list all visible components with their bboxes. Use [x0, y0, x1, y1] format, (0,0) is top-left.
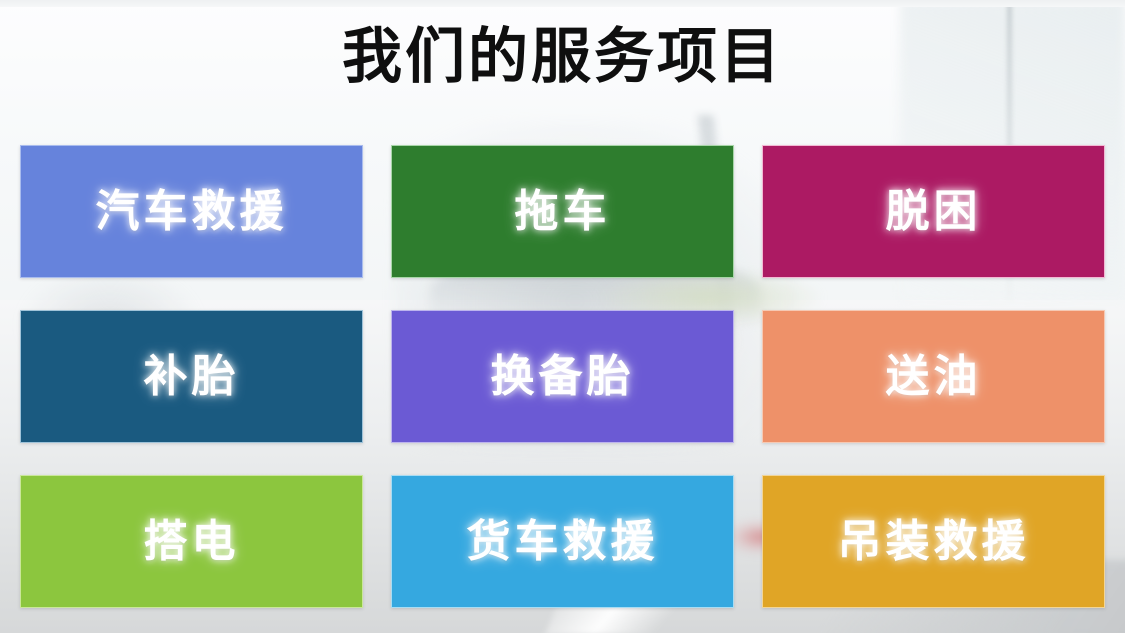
page-title: 我们的服务项目 — [342, 22, 783, 91]
service-tile[interactable]: 补胎 — [20, 310, 363, 443]
service-tile-label: 补胎 — [144, 355, 240, 399]
service-tile[interactable]: 拖车 — [391, 145, 734, 278]
service-tile[interactable]: 送油 — [762, 310, 1105, 443]
service-poster: 我们的服务项目 汽车救援拖车脱困补胎换备胎送油搭电货车救援吊装救援 — [0, 0, 1125, 633]
service-tile[interactable]: 换备胎 — [391, 310, 734, 443]
service-grid: 汽车救援拖车脱困补胎换备胎送油搭电货车救援吊装救援 — [20, 145, 1105, 608]
service-tile-label: 送油 — [886, 355, 982, 399]
background-top-strip — [0, 0, 1125, 7]
service-tile-label: 货车救援 — [467, 520, 659, 564]
service-tile-label: 吊装救援 — [838, 520, 1030, 564]
service-tile-label: 汽车救援 — [96, 190, 288, 234]
service-tile-label: 搭电 — [144, 520, 240, 564]
service-tile[interactable]: 货车救援 — [391, 475, 734, 608]
page-title-container: 我们的服务项目 — [0, 22, 1125, 91]
service-tile-label: 脱困 — [886, 190, 982, 234]
service-tile[interactable]: 脱困 — [762, 145, 1105, 278]
service-tile-label: 拖车 — [515, 190, 611, 234]
service-tile[interactable]: 汽车救援 — [20, 145, 363, 278]
service-tile[interactable]: 搭电 — [20, 475, 363, 608]
service-tile[interactable]: 吊装救援 — [762, 475, 1105, 608]
service-tile-label: 换备胎 — [491, 355, 635, 399]
